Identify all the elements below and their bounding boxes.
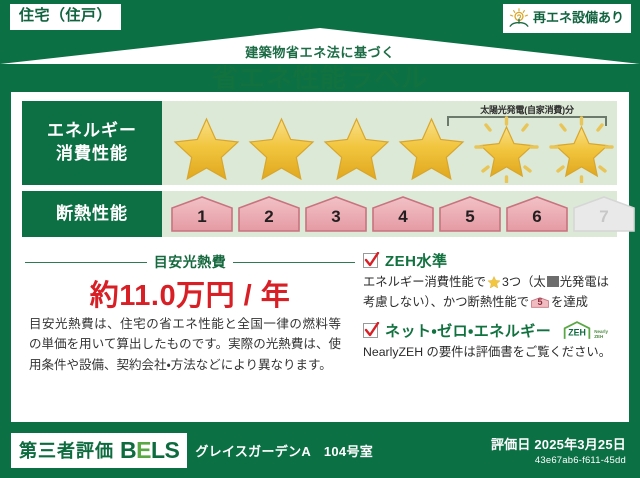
zeh-standard-item: ZEH水準 エネルギー消費性能で3つ（太光発電は考慮しない）、かつ断熱性能で5を… xyxy=(363,250,615,312)
bels-letter-e: E xyxy=(136,437,151,463)
zeh-standard-star-count: 3つ（太 xyxy=(502,275,546,289)
star-icon xyxy=(245,113,318,183)
star-solar-icon xyxy=(545,113,618,183)
energy-performance-key: エネルギー 消費性能 xyxy=(22,101,162,185)
house-level-number-inline: 5 xyxy=(531,298,549,307)
bels-badge: 第三者評価 BELS xyxy=(11,433,187,468)
house-icon: 4 xyxy=(371,195,435,233)
house-icon: 3 xyxy=(304,195,368,233)
page-title: 省エネ性能ラベル xyxy=(0,58,640,95)
property-name: グレイスガーデンA 104号室 xyxy=(195,441,373,460)
energy-performance-value: 太陽光発電(自家消費)分 xyxy=(162,101,617,185)
house-type-badge-label: 住宅（住戸） xyxy=(19,7,112,24)
house-icon: 6 xyxy=(505,195,569,233)
zeh-logo-mark-icon: ZEH xyxy=(562,320,592,341)
star-solar-icon xyxy=(470,113,543,183)
checkbox-checked-icon[interactable] xyxy=(363,253,378,268)
house-level-number: 6 xyxy=(505,208,569,225)
house-level-number: 2 xyxy=(237,208,301,225)
house-icon-inactive: 7 xyxy=(572,195,636,233)
heading-rule-right xyxy=(233,262,355,263)
zeh-standard-title: ZEH水準 xyxy=(385,250,448,271)
evaluation-id: 43e67ab6-f611-45dd xyxy=(491,455,626,466)
evaluation-date: 評価日 2025年3月25日 xyxy=(491,434,626,453)
insulation-performance-key: 断熱性能 xyxy=(22,191,162,237)
energy-performance-row: エネルギー 消費性能 太陽光発電(自家消費)分 xyxy=(22,101,617,185)
zeh-netzero-body: NearlyZEH の要件は評価書をご覧ください。 xyxy=(363,343,615,363)
utility-cost-heading-label: 目安光熱費 xyxy=(154,252,227,272)
insulation-level-scale: 1 2 3 xyxy=(170,195,636,233)
insulation-performance-row: 断熱性能 1 xyxy=(22,191,617,237)
house-icon-inline: 5 xyxy=(531,295,549,310)
zeh-netzero-title-row: ネット・ゼロ・エネルギー ZEH Nearly ZEH xyxy=(363,320,615,341)
label-card: エネルギー 消費性能 太陽光発電(自家消費)分 xyxy=(11,92,629,422)
house-type-badge: 住宅（住戸） xyxy=(10,4,121,30)
zeh-standard-body-part3: を達成 xyxy=(551,295,588,309)
star-icon xyxy=(320,113,393,183)
house-level-number: 3 xyxy=(304,208,368,225)
third-party-eval-label: 第三者評価 xyxy=(19,437,114,463)
star-icon-inline xyxy=(487,275,501,289)
zeh-logo: ZEH Nearly ZEH xyxy=(562,320,608,341)
insulation-key-label: 断熱性能 xyxy=(56,203,128,226)
checkbox-checked-icon[interactable] xyxy=(363,323,378,338)
sun-icon xyxy=(508,8,530,28)
utility-cost-amount: 約11.0万円 / 年 xyxy=(25,272,355,314)
house-level-number: 7 xyxy=(572,208,636,225)
zeh-standard-body-part1: エネルギー消費性能で xyxy=(363,275,486,289)
bels-logo-text: BELS xyxy=(120,439,179,462)
footer-left: 第三者評価 BELS グレイスガーデンA 104号室 xyxy=(11,433,373,468)
energy-key-line1: エネルギー xyxy=(47,121,137,140)
star-icon xyxy=(395,113,468,183)
bels-letter-b: B xyxy=(120,437,136,463)
star-rating xyxy=(170,113,618,183)
zeh-section: ZEH水準 エネルギー消費性能で3つ（太光発電は考慮しない）、かつ断熱性能で5を… xyxy=(363,250,615,371)
footer-right: 評価日 2025年3月25日 43e67ab6-f611-45dd xyxy=(491,434,626,466)
bels-letters-ls: LS xyxy=(151,437,179,463)
insulation-performance-value: 1 2 3 xyxy=(162,191,617,237)
redacted-character xyxy=(547,276,559,287)
zeh-netzero-title: ネット・ゼロ・エネルギー xyxy=(385,320,551,341)
energy-key-line2: 消費性能 xyxy=(56,144,128,163)
house-icon: 1 xyxy=(170,195,234,233)
house-level-number: 1 xyxy=(170,208,234,225)
zeh-logo-subtext: Nearly ZEH xyxy=(594,329,608,341)
renewable-equipment-label: 再エネ設備あり xyxy=(533,11,624,25)
svg-text:ZEH: ZEH xyxy=(568,328,586,338)
heading-rule-left xyxy=(25,262,147,263)
zeh-netzero-item: ネット・ゼロ・エネルギー ZEH Nearly ZEH NearlyZEH の要… xyxy=(363,320,615,363)
house-level-number: 4 xyxy=(371,208,435,225)
zeh-standard-body: エネルギー消費性能で3つ（太光発電は考慮しない）、かつ断熱性能で5を達成 xyxy=(363,273,615,312)
house-icon: 5 xyxy=(438,195,502,233)
star-icon xyxy=(170,113,243,183)
energy-label-root: 住宅（住戸） 再エネ設備あり 建築物省エネ法に xyxy=(0,0,640,478)
house-level-number: 5 xyxy=(438,208,502,225)
zeh-logo-sub-line2: ZEH xyxy=(594,334,603,339)
utility-cost-description: 目安光熱費は、住宅の省エネ性能と全国一律の燃料等の単価を用いて算出したものです。… xyxy=(29,314,341,375)
house-icon: 2 xyxy=(237,195,301,233)
utility-cost-heading: 目安光熱費 xyxy=(25,252,355,272)
zeh-standard-title-row: ZEH水準 xyxy=(363,250,615,271)
